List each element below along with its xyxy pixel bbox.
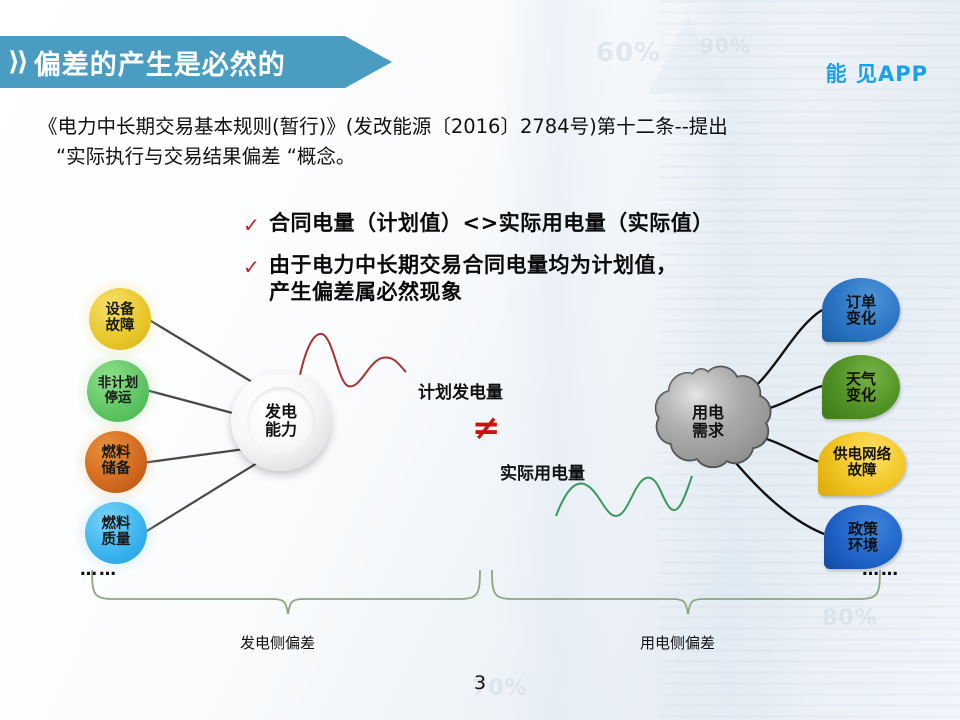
node-label-line1: 订单 (846, 294, 876, 310)
ellipsis-left: …… (80, 560, 118, 580)
node-label-line1: 设备 (106, 303, 135, 319)
node-grid-fault[interactable]: 供电网络 故障 (818, 432, 906, 496)
core-label-line1: 发电 (265, 403, 297, 421)
brace-left (92, 570, 480, 614)
label-generation-side-deviation: 发电侧偏差 (240, 632, 315, 653)
node-label-line1: 非计划 (98, 376, 139, 391)
core-node-power-demand[interactable]: 用电 需求 (659, 374, 757, 470)
label-consumption-side-deviation: 用电侧偏差 (640, 632, 715, 653)
node-label-line1: 供电网络 (833, 448, 891, 464)
node-label-line2: 故障 (106, 319, 135, 335)
node-label-line2: 停运 (105, 391, 132, 406)
label-planned-generation: 计划发电量 (418, 378, 503, 403)
node-label-line1: 燃料 (102, 517, 131, 533)
node-label-line1: 燃料 (102, 446, 131, 462)
core-node-demand-label: 用电 需求 (692, 404, 724, 440)
node-order-change[interactable]: 订单 变化 (822, 278, 900, 342)
page-number: 3 (0, 672, 960, 694)
not-equal-symbol: ≠ (472, 408, 501, 448)
node-fuel-quality[interactable]: 燃料 质量 (85, 502, 147, 564)
core-label-line2: 能力 (265, 421, 297, 439)
brace-right (492, 570, 880, 614)
core-label-line2: 需求 (692, 421, 724, 440)
core-node-generation-inner: 发电 能力 (247, 387, 315, 455)
core-label-line1: 用电 (692, 403, 724, 422)
mind-map: 设备 故障 非计划 停运 燃料 储备 燃料 质量 订单 变化 天气 变化 供电网… (0, 0, 960, 720)
node-label-line2: 变化 (846, 310, 876, 326)
node-weather-change[interactable]: 天气 变化 (822, 355, 900, 419)
ellipsis-right: …… (862, 560, 900, 580)
label-actual-consumption: 实际用电量 (500, 459, 585, 484)
node-label-line1: 天气 (846, 371, 876, 387)
node-unplanned-outage[interactable]: 非计划 停运 (87, 360, 149, 422)
node-equipment-fault[interactable]: 设备 故障 (89, 288, 151, 350)
node-label-line2: 变化 (846, 387, 876, 403)
node-label-line2: 故障 (848, 464, 877, 480)
node-label-line2: 质量 (102, 533, 131, 549)
core-node-generation-capacity[interactable]: 发电 能力 (231, 371, 331, 471)
node-fuel-reserve[interactable]: 燃料 储备 (85, 431, 147, 493)
slide-root: 60% 70% 80% 90% ⟩⟩ 偏差的产生是必然的 能 见APP 《电力中… (0, 0, 960, 720)
node-label-line1: 政策 (848, 521, 878, 537)
node-label-line2: 环境 (848, 537, 878, 553)
node-label-line2: 储备 (102, 462, 131, 478)
